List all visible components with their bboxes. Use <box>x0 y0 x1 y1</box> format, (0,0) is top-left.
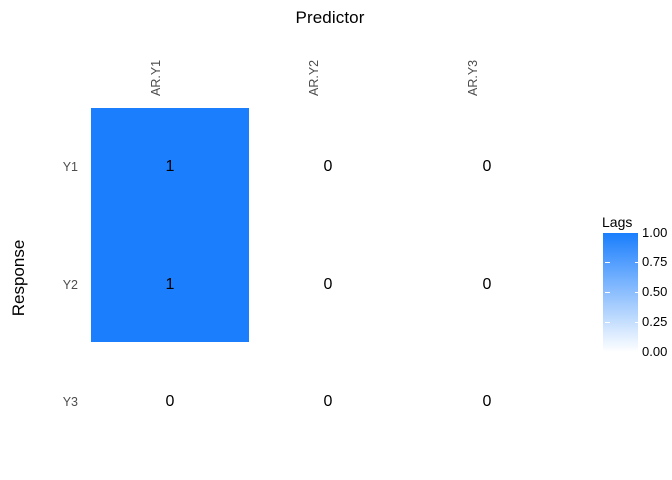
cell-value-y2-ar-y2: 0 <box>308 276 348 294</box>
heatmap-plot: Predictor Response AR.Y1 AR.Y2 AR.Y3 Y1 … <box>0 0 672 480</box>
x-axis-title: Predictor <box>0 8 660 28</box>
y-tick-label: Y2 <box>8 278 78 292</box>
x-tick-label: AR.Y3 <box>466 6 480 96</box>
legend-tick-mark <box>635 262 640 263</box>
heatmap-panel: 1 0 0 1 0 0 0 0 0 <box>91 108 407 460</box>
y-tick-y2: Y2 <box>0 278 78 292</box>
legend-label-025: 0.25 <box>642 315 672 329</box>
legend-tick-mark <box>605 292 610 293</box>
legend-tick-mark <box>635 322 640 323</box>
legend-label-0: 0.00 <box>642 345 672 359</box>
cell-value-y1-ar-y1: 1 <box>150 158 190 176</box>
y-tick-y1: Y1 <box>0 160 78 174</box>
x-tick-ar-y3: AR.Y3 <box>480 40 494 96</box>
legend-tick-mark <box>635 292 640 293</box>
legend-colorbar[interactable] <box>603 233 638 352</box>
y-tick-y3: Y3 <box>0 395 78 409</box>
x-tick-ar-y1: AR.Y1 <box>163 40 177 96</box>
cell-value-y2-ar-y1: 1 <box>150 276 190 294</box>
x-tick-label: AR.Y2 <box>307 6 321 96</box>
cell-value-y3-ar-y2: 0 <box>308 393 348 411</box>
cell-value-y1-ar-y3: 0 <box>467 158 507 176</box>
x-tick-label: AR.Y1 <box>149 6 163 96</box>
legend-title: Lags <box>602 214 632 230</box>
cell-value-y1-ar-y2: 0 <box>308 158 348 176</box>
x-tick-ar-y2: AR.Y2 <box>321 40 335 96</box>
legend-tick-mark <box>605 262 610 263</box>
legend-label-1: 1.00 <box>642 226 672 240</box>
legend-label-075: 0.75 <box>642 255 672 269</box>
cell-value-y2-ar-y3: 0 <box>467 276 507 294</box>
y-tick-label: Y3 <box>8 395 78 409</box>
legend: Lags 1.00 0.75 0.50 0.25 0.00 <box>601 214 671 364</box>
legend-label-050: 0.50 <box>642 285 672 299</box>
legend-tick-mark <box>605 322 610 323</box>
y-tick-label: Y1 <box>8 160 78 174</box>
cell-value-y3-ar-y1: 0 <box>150 393 190 411</box>
cell-value-y3-ar-y3: 0 <box>467 393 507 411</box>
